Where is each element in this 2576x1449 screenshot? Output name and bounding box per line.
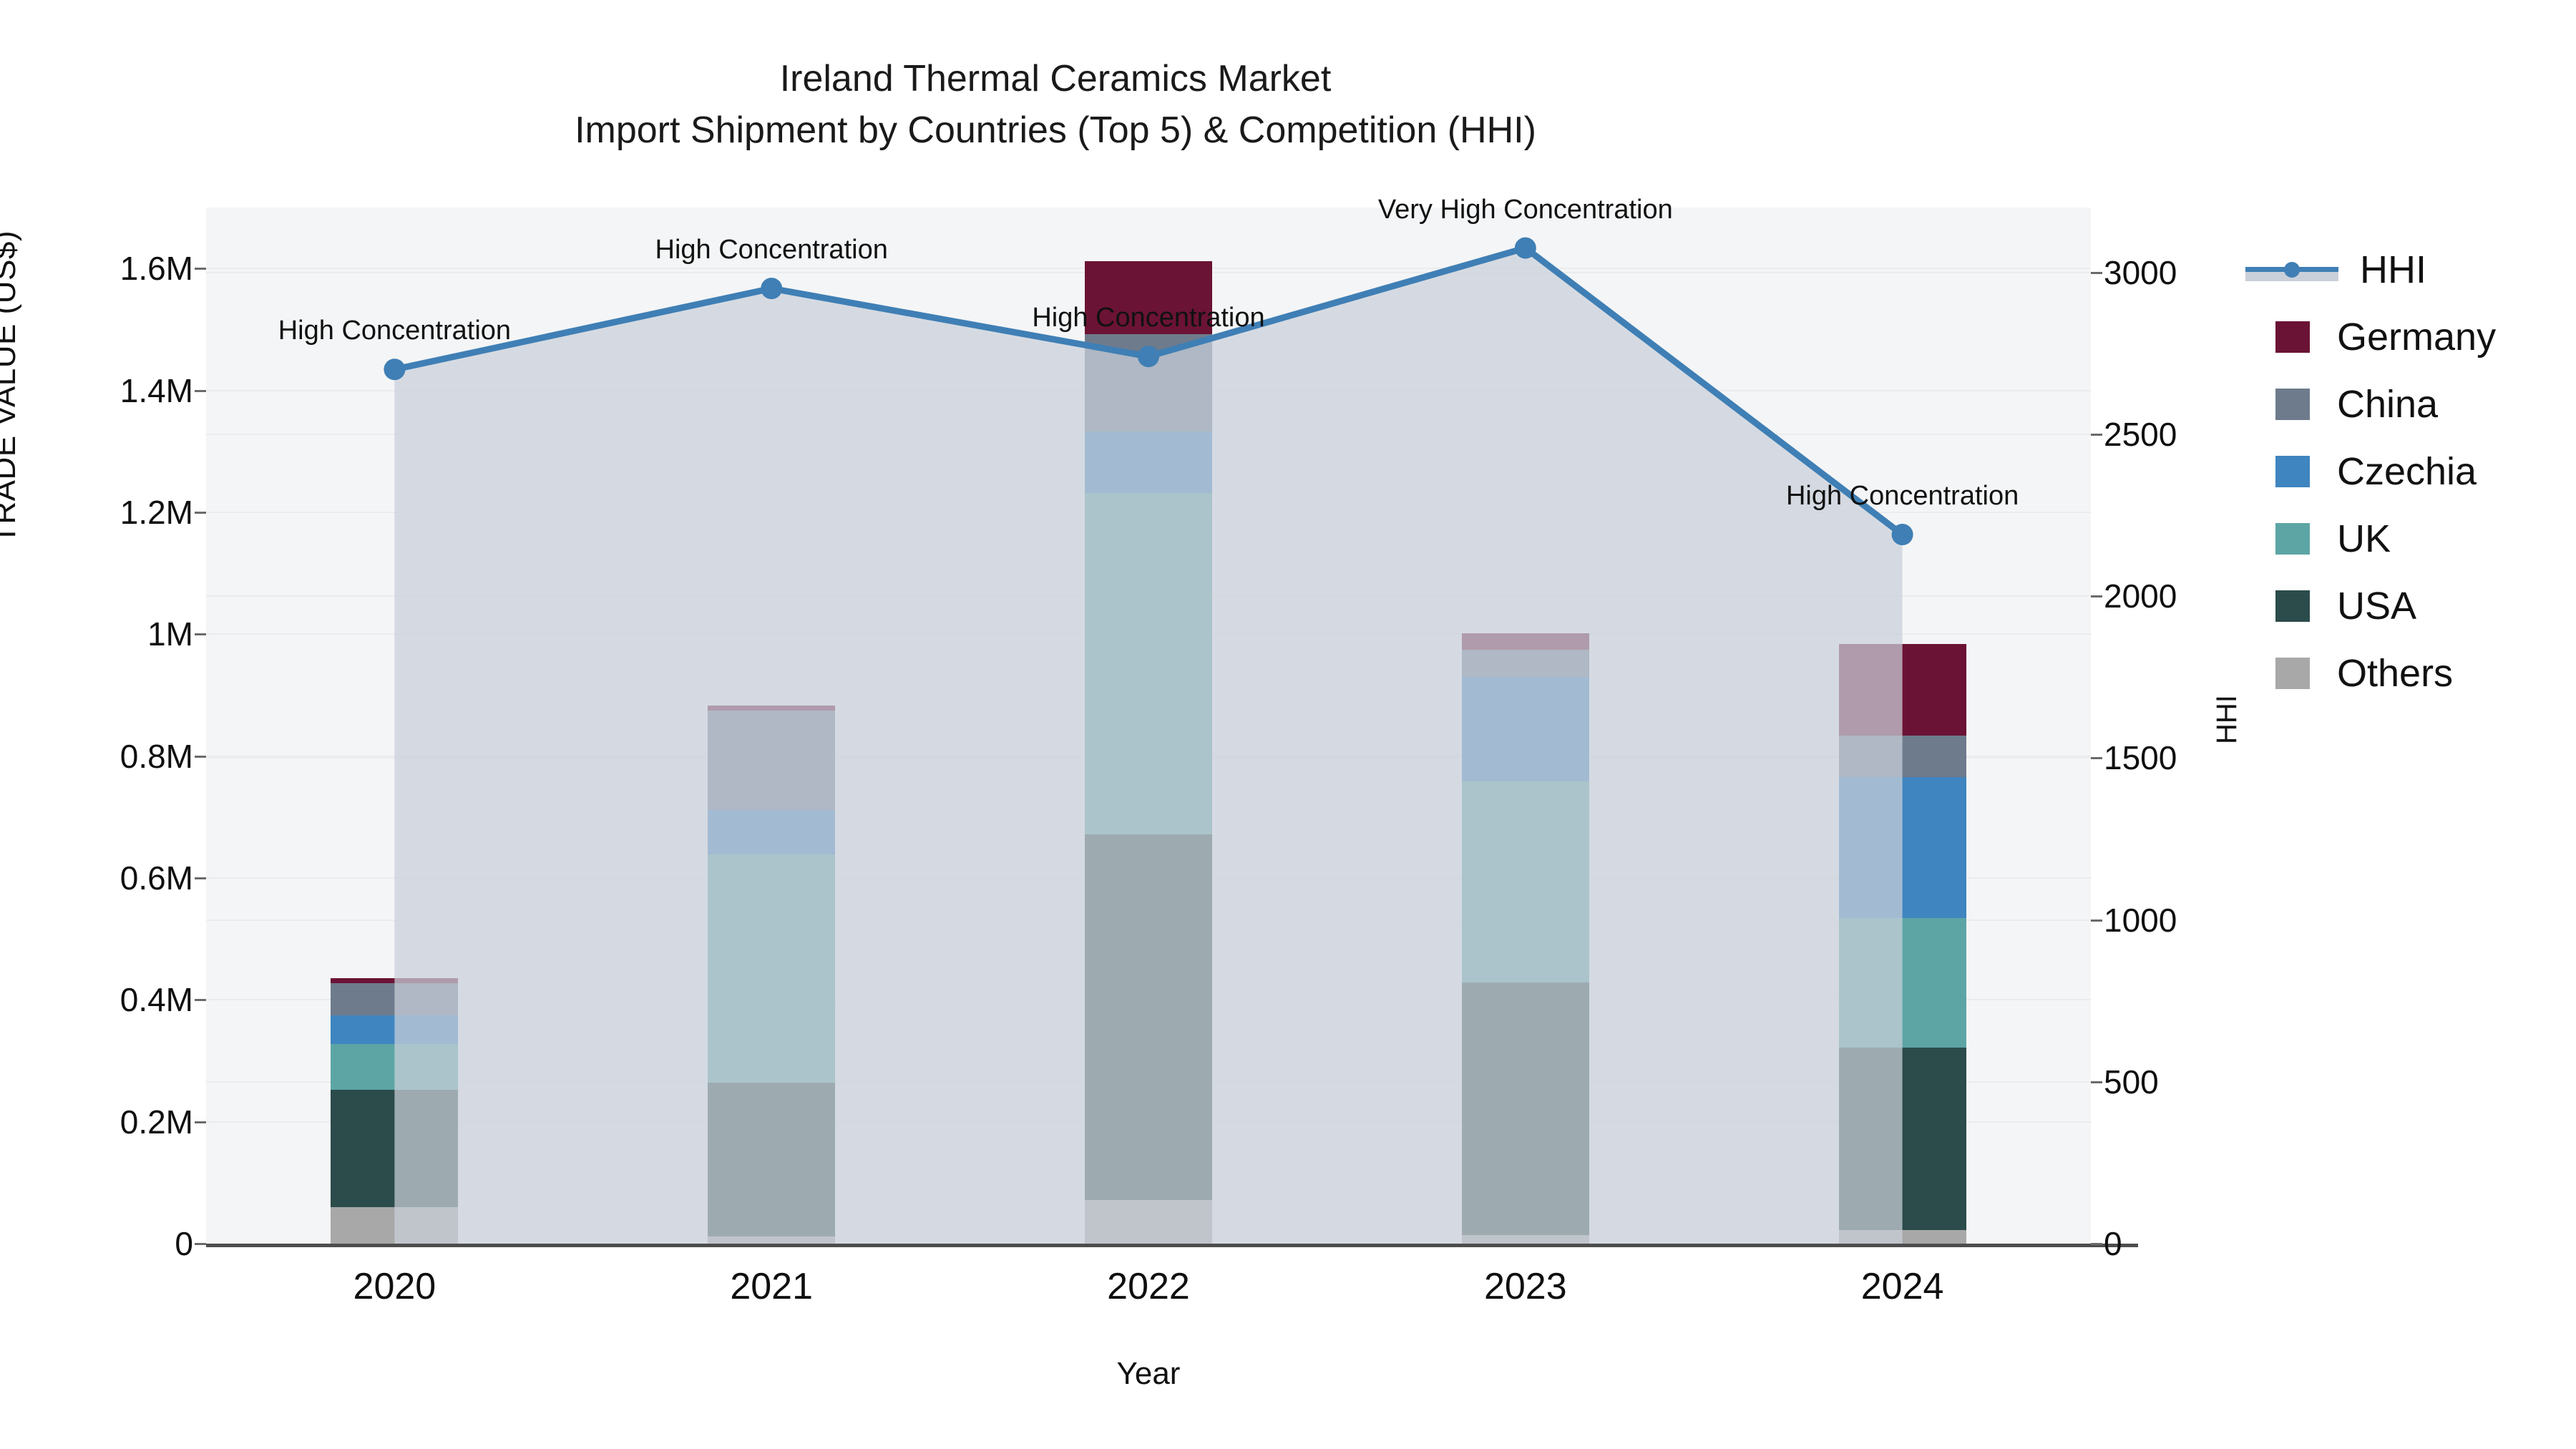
bar-2024[interactable] <box>1839 644 1966 1244</box>
bar-segment-2022-others[interactable] <box>1085 1200 1212 1244</box>
y-left-tick-0.4M: 0.4M <box>7 980 193 1019</box>
bar-2020[interactable] <box>331 978 458 1244</box>
y-left-tick-1.2M: 1.2M <box>7 493 193 532</box>
bar-2023[interactable] <box>1462 633 1589 1244</box>
y-left-tick-0: 0 <box>7 1224 193 1263</box>
x-tick-2024: 2024 <box>1861 1265 1944 1308</box>
legend-item-usa[interactable]: USA <box>2275 572 2576 640</box>
bar-segment-2021-usa[interactable] <box>708 1083 835 1236</box>
x-axis-label: Year <box>206 1356 2091 1392</box>
legend-label: Others <box>2337 651 2453 696</box>
annotation-2021: High Concentration <box>655 235 888 265</box>
chart-title-line-1: Ireland Thermal Ceramics Market <box>0 54 2111 105</box>
bar-segment-2020-others[interactable] <box>331 1207 458 1244</box>
bar-segment-2023-uk[interactable] <box>1462 781 1589 982</box>
bar-segment-2020-china[interactable] <box>331 983 458 1015</box>
legend-swatch-czechia <box>2275 456 2310 487</box>
y-left-tick-1.6M: 1.6M <box>7 249 193 288</box>
bar-segment-2021-china[interactable] <box>708 711 835 810</box>
bar-segment-2023-china[interactable] <box>1462 650 1589 677</box>
y-right-tick-1000: 1000 <box>2104 901 2177 940</box>
legend-item-germany[interactable]: Germany <box>2275 303 2576 371</box>
bar-segment-2024-usa[interactable] <box>1839 1048 1966 1231</box>
legend-label: Germany <box>2337 315 2496 359</box>
legend-label: HHI <box>2360 248 2426 292</box>
y-axis-left-label: TRADE VALUE (US$) <box>0 230 23 544</box>
y-right-tick-0: 0 <box>2104 1224 2122 1263</box>
bar-segment-2020-usa[interactable] <box>331 1090 458 1207</box>
bar-segment-2023-czechia[interactable] <box>1462 677 1589 782</box>
legend-item-uk[interactable]: UK <box>2275 505 2576 572</box>
bar-segment-2022-czechia[interactable] <box>1085 431 1212 492</box>
plot-area <box>206 208 2091 1244</box>
bar-segment-2020-czechia[interactable] <box>331 1015 458 1045</box>
bar-segment-2024-uk[interactable] <box>1839 918 1966 1048</box>
bar-segment-2020-uk[interactable] <box>331 1044 458 1090</box>
y-left-tick-mark <box>195 1121 206 1123</box>
y-left-tick-mark <box>195 999 206 1001</box>
annotation-2020: High Concentration <box>278 316 511 346</box>
annotation-2022: High Concentration <box>1032 303 1264 333</box>
legend-item-china[interactable]: China <box>2275 371 2576 438</box>
y-left-tick-1M: 1M <box>7 615 193 653</box>
y-right-tick-mark <box>2091 1081 2102 1083</box>
y-left-tick-mark <box>195 756 206 758</box>
legend-label: UK <box>2337 517 2391 561</box>
bar-segment-2024-czechia[interactable] <box>1839 777 1966 919</box>
y-right-tick-mark <box>2091 1243 2102 1245</box>
bar-segment-2023-germany[interactable] <box>1462 633 1589 650</box>
bar-segment-2024-germany[interactable] <box>1839 644 1966 736</box>
bar-segment-2024-china[interactable] <box>1839 736 1966 777</box>
x-axis-line <box>206 1244 2138 1247</box>
annotation-2024: High Concentration <box>1786 481 2019 512</box>
y-left-tick-mark <box>195 877 206 879</box>
chart-legend: HHIGermanyChinaCzechiaUKUSAOthers <box>2275 236 2576 707</box>
y-right-tick-2500: 2500 <box>2104 415 2177 454</box>
y-right-tick-3000: 3000 <box>2104 253 2177 292</box>
y-right-tick-mark <box>2091 434 2102 436</box>
bar-segment-2022-usa[interactable] <box>1085 834 1212 1200</box>
y-left-tick-1.4M: 1.4M <box>7 371 193 410</box>
legend-item-others[interactable]: Others <box>2275 640 2576 707</box>
legend-swatch-usa <box>2275 590 2310 622</box>
y-left-tick-mark <box>195 390 206 392</box>
y-right-tick-mark <box>2091 272 2102 274</box>
bar-segment-2021-uk[interactable] <box>708 854 835 1083</box>
plot-inner <box>206 208 2091 1244</box>
bar-segment-2022-uk[interactable] <box>1085 493 1212 834</box>
x-tick-2022: 2022 <box>1107 1265 1190 1308</box>
y-left-tick-0.8M: 0.8M <box>7 737 193 776</box>
bar-segment-2023-others[interactable] <box>1462 1235 1589 1244</box>
legend-swatch-germany <box>2275 321 2310 353</box>
y-right-tick-mark <box>2091 919 2102 922</box>
y-left-tick-0.6M: 0.6M <box>7 859 193 897</box>
y-left-tick-mark <box>195 1243 206 1245</box>
y-left-tick-mark <box>195 512 206 514</box>
legend-label: Czechia <box>2337 449 2477 494</box>
legend-label: USA <box>2337 584 2416 628</box>
legend-item-czechia[interactable]: Czechia <box>2275 438 2576 505</box>
bar-segment-2021-germany[interactable] <box>708 706 835 711</box>
bar-segment-2021-czechia[interactable] <box>708 810 835 854</box>
chart-title-line-2: Import Shipment by Countries (Top 5) & C… <box>0 105 2111 157</box>
legend-item-hhi[interactable]: HHI <box>2275 236 2576 303</box>
y-left-tick-mark <box>195 268 206 270</box>
legend-swatch-others <box>2275 658 2310 689</box>
y-axis-right-label: HHI <box>2211 695 2243 744</box>
chart-title: Ireland Thermal Ceramics Market Import S… <box>0 54 2111 157</box>
x-tick-2023: 2023 <box>1484 1265 1567 1308</box>
bar-segment-2022-china[interactable] <box>1085 334 1212 431</box>
y-right-tick-500: 500 <box>2104 1063 2159 1101</box>
x-tick-2020: 2020 <box>353 1265 436 1308</box>
bar-2022[interactable] <box>1085 261 1212 1244</box>
x-tick-2021: 2021 <box>730 1265 813 1308</box>
y-left-tick-0.2M: 0.2M <box>7 1103 193 1141</box>
bar-segment-2020-germany[interactable] <box>331 978 458 983</box>
legend-swatch-china <box>2275 389 2310 420</box>
legend-line-icon <box>2245 254 2338 286</box>
legend-swatch-uk <box>2275 523 2310 555</box>
bar-segment-2024-others[interactable] <box>1839 1230 1966 1244</box>
y-right-tick-mark <box>2091 757 2102 759</box>
y-left-tick-mark <box>195 633 206 635</box>
bar-segment-2023-usa[interactable] <box>1462 982 1589 1235</box>
legend-label: China <box>2337 382 2438 426</box>
y-right-tick-mark <box>2091 595 2102 597</box>
bar-segment-2021-others[interactable] <box>708 1236 835 1244</box>
y-right-tick-2000: 2000 <box>2104 577 2177 615</box>
y-right-tick-1500: 1500 <box>2104 738 2177 777</box>
bar-2021[interactable] <box>708 706 835 1244</box>
chart-canvas: Ireland Thermal Ceramics Market Import S… <box>0 0 2576 1449</box>
annotation-2023: Very High Concentration <box>1378 195 1673 225</box>
